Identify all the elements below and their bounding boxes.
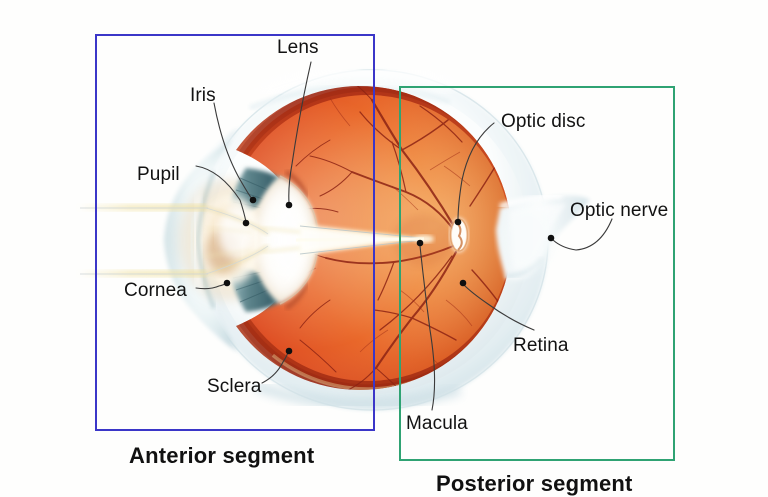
dot-sclera — [286, 348, 293, 355]
label-sclera: Sclera — [207, 377, 261, 396]
label-lens: Lens — [277, 38, 319, 57]
dot-cornea — [224, 280, 231, 287]
label-optic-disc: Optic disc — [501, 112, 585, 131]
dot-macula — [417, 240, 424, 247]
dot-optic-nerve — [548, 235, 555, 242]
dot-optic-disc — [455, 219, 462, 226]
dot-retina — [460, 280, 467, 287]
label-iris: Iris — [190, 86, 216, 105]
label-pupil: Pupil — [137, 165, 180, 184]
dot-pupil — [243, 220, 250, 227]
label-optic-nerve: Optic nerve — [570, 201, 668, 220]
incoming-ray-upper — [78, 204, 208, 211]
eye-illustration — [0, 0, 768, 497]
anterior-segment-label: Anterior segment — [129, 443, 314, 469]
incoming-ray-lower — [78, 270, 208, 277]
label-macula: Macula — [406, 414, 468, 433]
label-retina: Retina — [513, 336, 569, 355]
label-cornea: Cornea — [124, 281, 187, 300]
dot-lens — [286, 202, 293, 209]
posterior-segment-label: Posterior segment — [436, 471, 633, 497]
eye-anatomy-figure: Lens Iris Pupil Cornea Sclera Optic disc… — [0, 0, 768, 497]
dot-iris — [250, 197, 257, 204]
